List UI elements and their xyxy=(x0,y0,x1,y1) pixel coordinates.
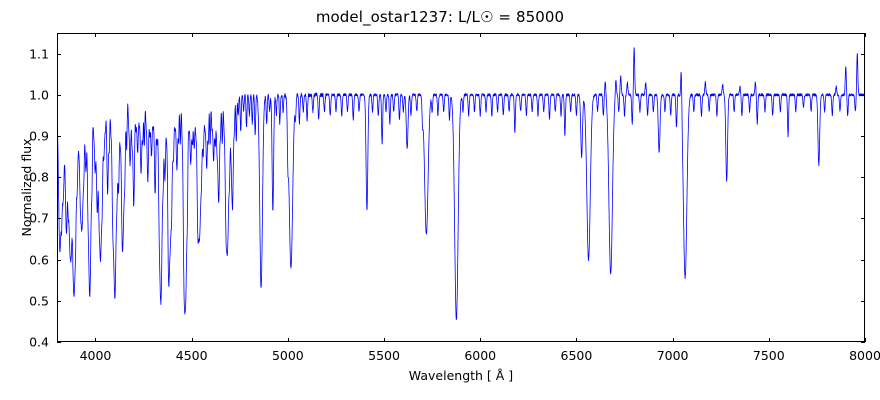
x-axis-tick-labels: 400045005000550060006500700075008000 xyxy=(57,342,865,368)
x-tick-label: 6000 xyxy=(464,348,496,363)
y-tick-label: 0.8 xyxy=(29,170,49,185)
x-tick-label: 7500 xyxy=(753,348,785,363)
plot-area xyxy=(57,33,865,342)
figure-canvas: model_ostar1237: L/L☉ = 85000 Normalized… xyxy=(0,0,880,400)
y-tick-label: 0.7 xyxy=(29,211,49,226)
x-tick-mark xyxy=(288,33,289,37)
y-tick-mark xyxy=(861,95,865,96)
y-tick-mark xyxy=(861,218,865,219)
x-tick-mark xyxy=(865,338,866,342)
x-tick-mark xyxy=(384,33,385,37)
y-tick-label: 0.6 xyxy=(29,252,49,267)
x-tick-label: 6500 xyxy=(561,348,593,363)
x-tick-label: 5500 xyxy=(368,348,400,363)
x-tick-label: 8000 xyxy=(849,348,880,363)
x-tick-mark xyxy=(865,33,866,37)
x-axis-label: Wavelength [ Å ] xyxy=(57,368,865,383)
y-tick-label: 0.4 xyxy=(29,335,49,350)
x-tick-mark xyxy=(95,33,96,37)
spectrum-line-series xyxy=(57,33,865,342)
y-tick-mark xyxy=(861,177,865,178)
y-tick-mark xyxy=(861,54,865,55)
y-tick-mark xyxy=(861,301,865,302)
y-tick-label: 0.9 xyxy=(29,129,49,144)
x-tick-mark xyxy=(769,33,770,37)
y-tick-mark xyxy=(57,301,61,302)
x-tick-label: 4000 xyxy=(80,348,112,363)
x-tick-label: 5000 xyxy=(272,348,304,363)
x-tick-mark xyxy=(192,33,193,37)
x-tick-label: 7000 xyxy=(657,348,689,363)
y-tick-label: 1.1 xyxy=(29,46,49,61)
y-tick-mark xyxy=(57,95,61,96)
y-tick-mark xyxy=(57,136,61,137)
spectrum-path xyxy=(57,48,865,320)
x-tick-mark xyxy=(576,33,577,37)
y-tick-label: 1.0 xyxy=(29,87,49,102)
page-title: model_ostar1237: L/L☉ = 85000 xyxy=(0,8,880,26)
x-tick-mark xyxy=(673,33,674,37)
y-tick-mark xyxy=(861,136,865,137)
y-tick-label: 0.5 xyxy=(29,293,49,308)
y-tick-mark xyxy=(861,260,865,261)
y-tick-mark xyxy=(57,54,61,55)
y-tick-mark xyxy=(57,177,61,178)
x-tick-label: 4500 xyxy=(176,348,208,363)
y-tick-mark xyxy=(57,260,61,261)
y-axis-tick-labels: 0.40.50.60.70.80.91.01.1 xyxy=(0,33,55,342)
y-tick-mark xyxy=(57,218,61,219)
x-tick-mark xyxy=(480,33,481,37)
